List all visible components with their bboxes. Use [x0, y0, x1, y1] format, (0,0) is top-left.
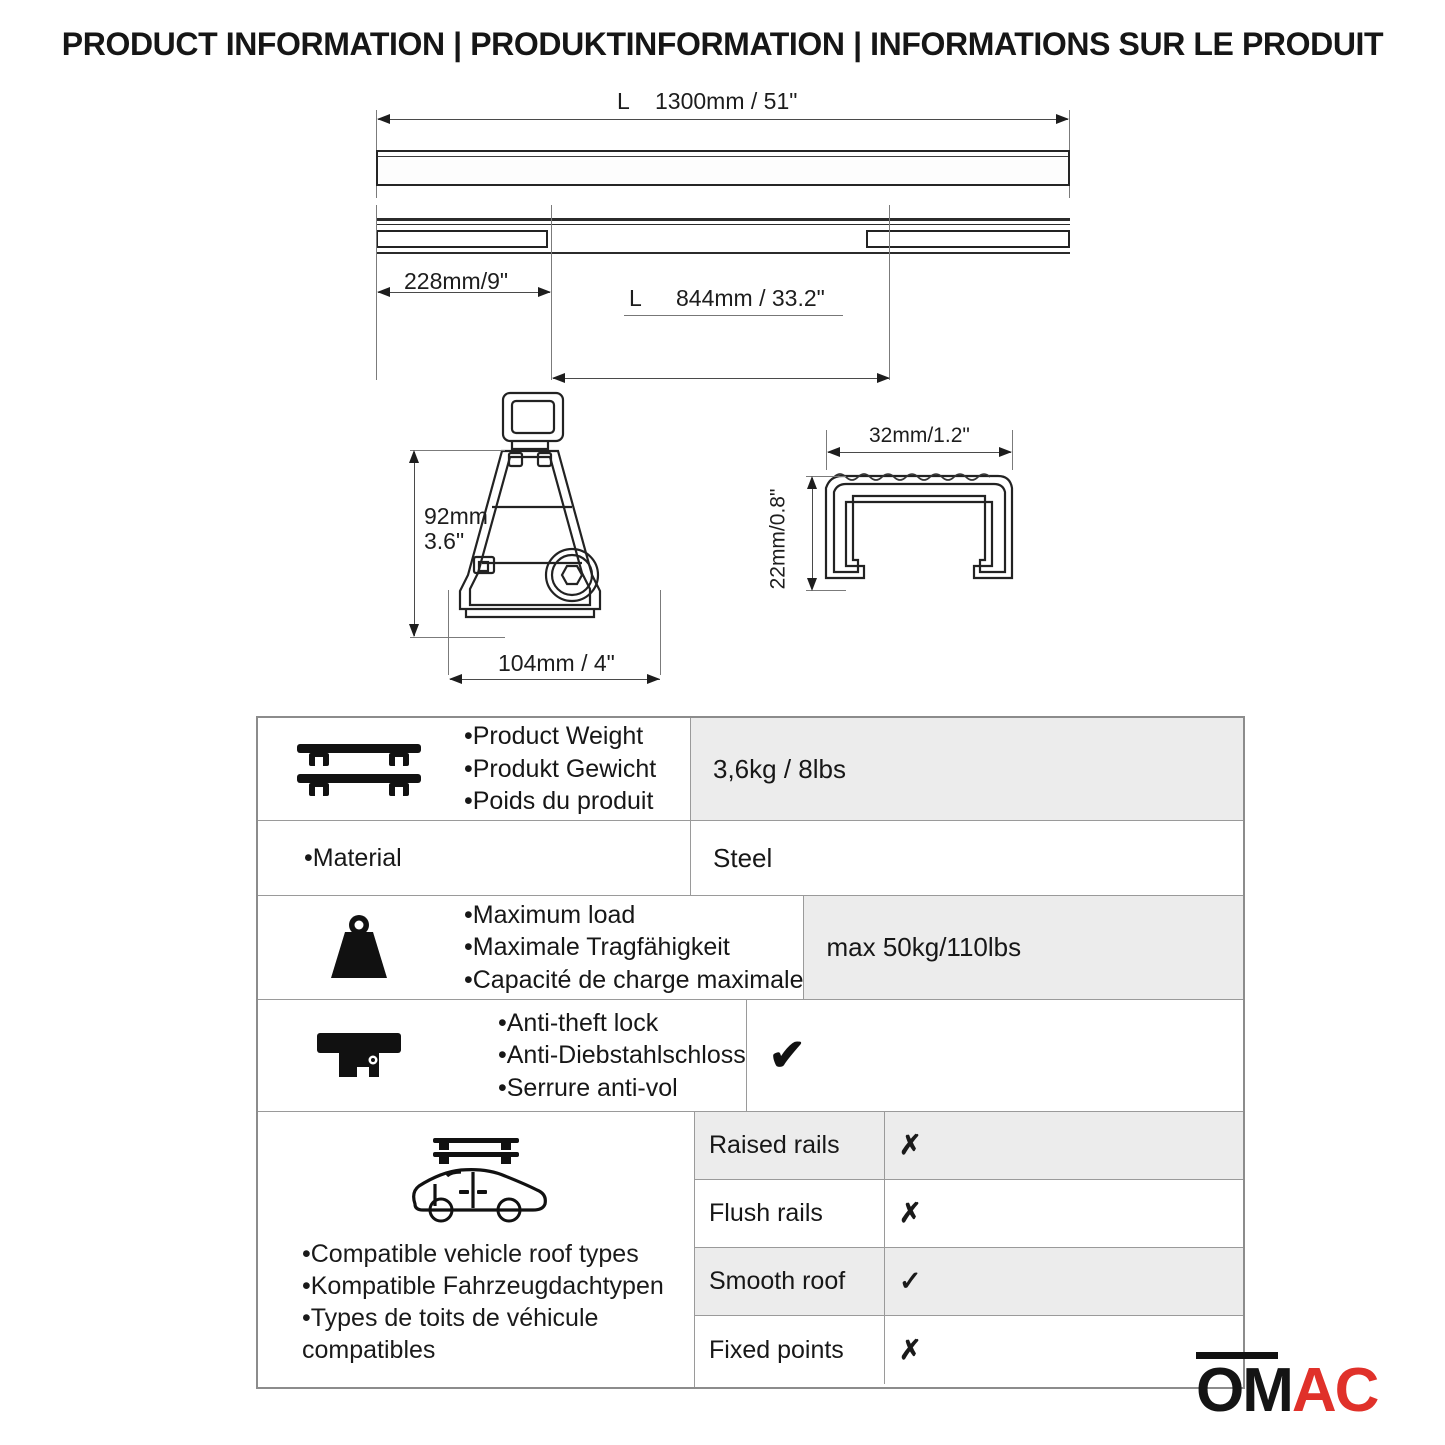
arrow-up-profile-height [807, 476, 817, 489]
arrow-left-total [377, 114, 390, 124]
arrow-left-span [552, 373, 565, 383]
specification-table: •Product Weight •Produkt Gewicht •Poids … [256, 716, 1245, 1389]
label-line: •Product Weight [464, 720, 690, 753]
arrow-right-foot-width [647, 674, 660, 684]
side-inner-line [376, 224, 1070, 225]
foot-height-in-label: 3.6" [424, 528, 464, 555]
roof-type-row-flush-rails: Flush rails ✗ [695, 1180, 1243, 1248]
weight-icon [258, 896, 460, 999]
roof-type-name: Smooth roof [695, 1248, 885, 1315]
arrow-down-foot-height [409, 624, 419, 637]
dimension-line-span [553, 378, 889, 379]
car-with-crossbars-icon [401, 1132, 551, 1224]
span-label-prefix: L [629, 285, 642, 312]
table-value-material: Steel [691, 821, 1243, 895]
crossbars-icon [258, 718, 460, 820]
label-line: •Maximum load [464, 899, 803, 932]
roof-types-matrix: Raised rails ✗ Flush rails ✗ Smooth roof… [695, 1112, 1243, 1387]
roof-type-name: Raised rails [695, 1112, 885, 1179]
logo-dark-part: OM [1196, 1356, 1292, 1425]
crossbar-side-view [376, 212, 1070, 258]
label-line: •Capacité de charge maximale [464, 964, 803, 997]
foot-width-label: 104mm / 4" [498, 650, 615, 677]
foot-block-left [376, 230, 548, 248]
arrow-left-profile-width [827, 447, 840, 457]
side-top-line [376, 218, 1070, 221]
dimension-line-total [378, 119, 1068, 120]
roof-type-mark: ✗ [885, 1316, 1243, 1384]
arrow-down-profile-height [807, 578, 817, 591]
profile-height-label: 22mm/0.8" [766, 489, 790, 590]
label-line: •Types de toits de véhicule [302, 1302, 664, 1334]
label-line: •Kompatible Fahrzeugdachtypen [302, 1270, 664, 1302]
label-line: •Produkt Gewicht [464, 753, 690, 786]
dimension-line-profile-height [812, 478, 813, 588]
label-line: •Compatible vehicle roof types [302, 1238, 664, 1270]
label-line: •Material [304, 842, 690, 875]
roof-types-label-cell: •Compatible vehicle roof types •Kompatib… [258, 1112, 695, 1387]
arrow-right-offset [538, 287, 551, 297]
table-row-material: •Material Steel [258, 821, 1243, 896]
dimension-line-foot-width [450, 679, 660, 680]
table-label-product-weight: •Product Weight •Produkt Gewicht •Poids … [460, 718, 691, 820]
roof-type-mark: ✗ [885, 1112, 1243, 1179]
table-row-roof-types: •Compatible vehicle roof types •Kompatib… [258, 1112, 1243, 1387]
lock-icon [258, 1000, 460, 1111]
page-title: PRODUCT INFORMATION | PRODUKTINFORMATION… [0, 26, 1445, 63]
profile-width-label: 32mm/1.2" [869, 424, 970, 448]
crossbar-front-detail-line [378, 156, 1068, 157]
label-line: •Anti-Diebstahlschloss [498, 1039, 746, 1072]
roof-type-mark: ✗ [885, 1180, 1243, 1247]
length-label-prefix: L [617, 88, 630, 115]
roof-type-mark: ✓ [885, 1248, 1243, 1315]
foot-height-ext-bottom [410, 637, 505, 638]
label-line: •Anti-theft lock [498, 1007, 746, 1040]
roof-type-row-raised-rails: Raised rails ✗ [695, 1112, 1243, 1180]
logo-accent-part: AC [1292, 1356, 1378, 1425]
roof-type-name: Fixed points [695, 1316, 885, 1384]
foot-height-ext-top [410, 450, 505, 451]
table-label-anti-theft-lock: •Anti-theft lock •Anti-Diebstahlschloss … [460, 1000, 747, 1111]
dimension-line-offset [378, 292, 550, 293]
profile-width-ext-right [1012, 430, 1013, 470]
table-row-maximum-load: •Maximum load •Maximale Tragfähigkeit •C… [258, 896, 1243, 1000]
ref-line-foot-right [889, 205, 890, 380]
dimension-line-foot-height [414, 452, 415, 636]
table-label-maximum-load: •Maximum load •Maximale Tragfähigkeit •C… [460, 896, 804, 999]
arrow-right-profile-width [999, 447, 1012, 457]
profile-cross-section-drawing [820, 462, 1020, 592]
arrow-right-total [1056, 114, 1069, 124]
arrow-up-foot-height [409, 450, 419, 463]
table-value-product-weight: 3,6kg / 8lbs [691, 718, 1243, 820]
length-total-label: 1300mm / 51" [655, 88, 797, 115]
span-dimension-label: 844mm / 33.2" [676, 285, 825, 312]
foot-height-mm-label: 92mm [424, 503, 488, 530]
arrow-left-foot-width [449, 674, 462, 684]
checkmark-icon: ✔ [769, 1034, 806, 1078]
label-line: •Maximale Tragfähigkeit [464, 931, 803, 964]
table-value-maximum-load: max 50kg/110lbs [804, 896, 1356, 999]
foot-block-right [866, 230, 1070, 248]
product-information-sheet: PRODUCT INFORMATION | PRODUKTINFORMATION… [0, 0, 1445, 1445]
table-label-material: •Material [460, 821, 691, 895]
side-bottom-line [376, 252, 1070, 254]
roof-type-name: Flush rails [695, 1180, 885, 1247]
offset-dimension-label: 228mm/9" [404, 268, 508, 295]
foot-width-ext-left [448, 590, 449, 675]
arrow-right-span [877, 373, 890, 383]
foot-width-ext-right [660, 590, 661, 675]
roof-type-row-smooth-roof: Smooth roof ✓ [695, 1248, 1243, 1316]
dimension-line-profile-width [828, 452, 1011, 453]
span-label-underline [624, 315, 843, 316]
table-row-product-weight: •Product Weight •Produkt Gewicht •Poids … [258, 718, 1243, 821]
label-line: •Serrure anti-vol [498, 1072, 746, 1105]
roof-type-row-fixed-points: Fixed points ✗ [695, 1316, 1243, 1384]
table-value-anti-theft-lock: ✔ [747, 1000, 1299, 1111]
arrow-left-offset [377, 287, 390, 297]
logo-wordmark: OMAC [1196, 1360, 1377, 1422]
table-row-anti-theft-lock: •Anti-theft lock •Anti-Diebstahlschloss … [258, 1000, 1243, 1112]
omac-logo: OMAC [1196, 1352, 1418, 1426]
label-line: •Poids du produit [464, 785, 690, 818]
label-line: compatibles [302, 1334, 664, 1366]
ref-line-foot-left [551, 205, 552, 380]
